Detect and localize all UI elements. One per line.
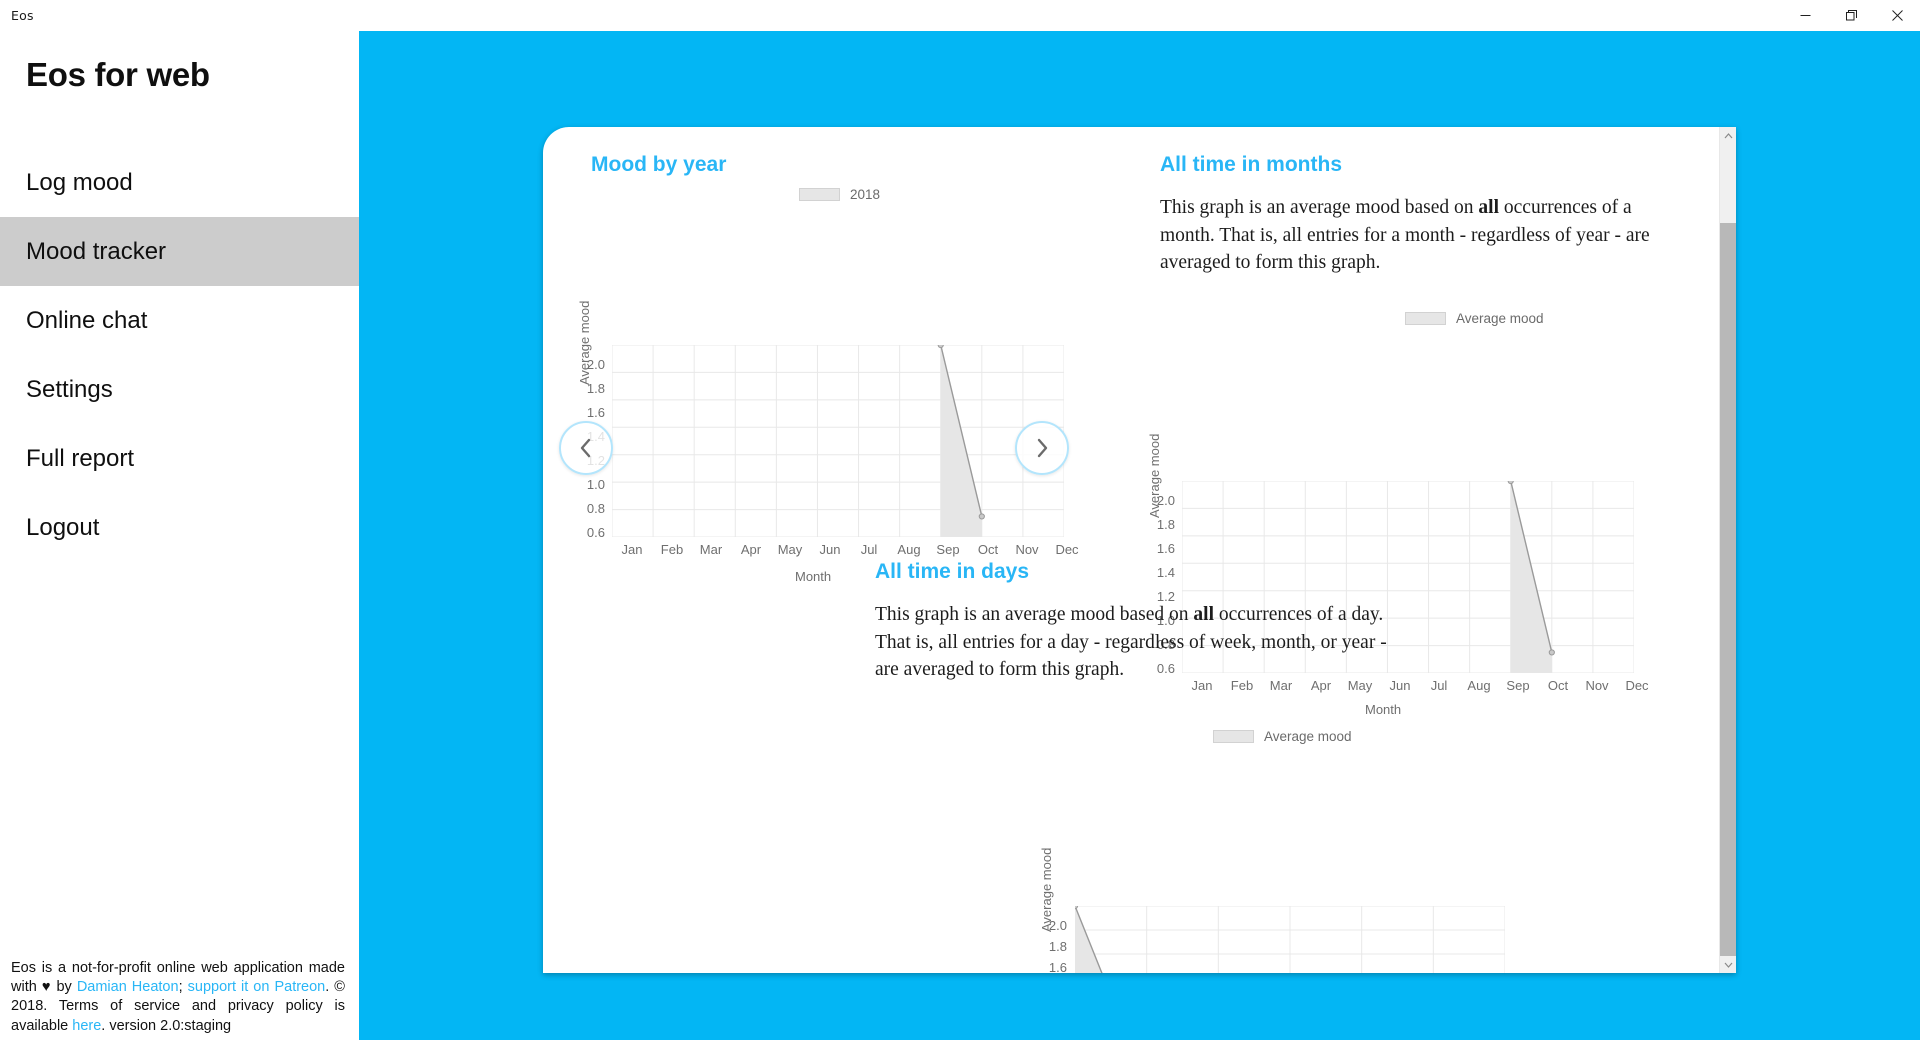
y-tick: 1.8: [563, 381, 605, 396]
sidebar-nav: Log mood Mood tracker Online chat Settin…: [0, 148, 359, 562]
chart-all-time-in-days: Average mood Average mood 2.0 1.8 1.6 1.…: [843, 707, 1413, 973]
sidebar: Eos for web Log mood Mood tracker Online…: [0, 31, 359, 1040]
footer-text-2: by: [51, 979, 76, 995]
y-tick: 1.6: [1133, 541, 1175, 556]
next-year-button[interactable]: [1015, 421, 1069, 475]
legend-swatch-2018: [799, 188, 840, 201]
sidebar-item-settings[interactable]: Settings: [0, 355, 359, 424]
para-emphasis: all: [1478, 197, 1499, 218]
scroll-down-button[interactable]: [1720, 956, 1736, 973]
chevron-left-icon: [578, 437, 594, 459]
sidebar-item-label: Full report: [26, 445, 134, 473]
restore-icon: [1846, 10, 1857, 21]
sidebar-item-label: Mood tracker: [26, 238, 166, 266]
x-tick: Dec: [1600, 678, 1674, 693]
y-tick: 2.0: [1133, 493, 1175, 508]
content-stage: Mood by year 2018 Average mood 2.0 1.8 1…: [359, 31, 1920, 1040]
y-tick: 0.6: [563, 525, 605, 540]
chevron-down-icon: [1724, 962, 1733, 968]
section-paragraph-all-time-months: This graph is an average mood based on a…: [1160, 194, 1684, 277]
y-tick: 2.0: [563, 357, 605, 372]
chart-legend: Average mood: [1213, 729, 1352, 744]
y-tick: 1.4: [1133, 565, 1175, 580]
sidebar-item-label: Online chat: [26, 307, 147, 335]
chevron-up-icon: [1724, 133, 1733, 139]
footer-text-5: . version 2.0:staging: [101, 1018, 231, 1034]
link-support-patreon[interactable]: support it on Patreon: [188, 979, 326, 995]
footer-text-3: ;: [179, 979, 188, 995]
x-axis-title: Month: [795, 569, 831, 584]
close-button[interactable]: [1874, 0, 1920, 31]
app-window: Eos Eos for web: [0, 0, 1920, 1040]
y-tick: 1.6: [1025, 960, 1067, 973]
prev-year-button[interactable]: [559, 421, 613, 475]
title-bar: Eos: [0, 0, 1920, 31]
y-tick: 2.0: [1025, 918, 1067, 933]
link-damian-heaton[interactable]: Damian Heaton: [77, 979, 179, 995]
sidebar-item-label: Logout: [26, 514, 99, 542]
restore-button[interactable]: [1828, 0, 1874, 31]
minimize-button[interactable]: [1782, 0, 1828, 31]
sidebar-item-full-report[interactable]: Full report: [0, 424, 359, 493]
sidebar-item-logout[interactable]: Logout: [0, 493, 359, 562]
y-tick: 1.8: [1133, 517, 1175, 532]
y-tick: 1.8: [1025, 939, 1067, 954]
para-text-a: This graph is an average mood based on: [1160, 197, 1478, 218]
window-title: Eos: [11, 8, 34, 23]
card-inner: Mood by year 2018 Average mood 2.0 1.8 1…: [543, 127, 1719, 973]
sidebar-item-label: Settings: [26, 376, 113, 404]
x-tick: Dec: [1030, 542, 1104, 557]
legend-label-average-mood: Average mood: [1456, 311, 1544, 326]
minimize-icon: [1800, 10, 1811, 21]
section-title-all-time-months: All time in months: [1160, 153, 1342, 177]
legend-swatch-average-mood: [1213, 730, 1254, 743]
heart-icon: ♥: [42, 979, 52, 995]
sidebar-item-log-mood[interactable]: Log mood: [0, 148, 359, 217]
sidebar-footer: Eos is a not-for-profit online web appli…: [0, 959, 359, 1036]
y-tick: 1.6: [563, 405, 605, 420]
card-scrollbar[interactable]: [1719, 127, 1736, 973]
y-tick: 0.8: [563, 501, 605, 516]
para-text-a: This graph is an average mood based on: [875, 604, 1193, 625]
plot-area-mood-by-year: [612, 345, 1064, 537]
sidebar-item-online-chat[interactable]: Online chat: [0, 286, 359, 355]
section-paragraph-all-time-days: This graph is an average mood based on a…: [875, 601, 1409, 684]
section-title-all-time-days: All time in days: [875, 560, 1029, 584]
para-emphasis: all: [1193, 604, 1214, 625]
chart-all-time-in-months: Average mood Average mood 2.0 1.8 1.6 1.…: [1133, 303, 1703, 623]
chart-legend: 2018: [799, 187, 880, 202]
section-title-mood-by-year: Mood by year: [591, 153, 726, 177]
sidebar-item-mood-tracker[interactable]: Mood tracker: [0, 217, 359, 286]
chart-legend: Average mood: [1405, 311, 1544, 326]
close-icon: [1892, 10, 1903, 21]
window-controls: [1782, 0, 1920, 31]
legend-label-average-mood: Average mood: [1264, 729, 1352, 744]
sidebar-item-label: Log mood: [26, 169, 133, 197]
chevron-right-icon: [1034, 437, 1050, 459]
y-axis-title: Average mood: [577, 301, 592, 385]
legend-swatch-average-mood: [1405, 312, 1446, 325]
scroll-up-button[interactable]: [1720, 127, 1736, 144]
y-tick: 1.0: [563, 477, 605, 492]
brand-title: Eos for web: [26, 56, 210, 94]
link-here[interactable]: here: [72, 1018, 101, 1034]
legend-label-2018: 2018: [850, 187, 880, 202]
scrollbar-thumb[interactable]: [1720, 223, 1736, 962]
plot-area-all-time-in-days: [1075, 906, 1505, 973]
content-card: Mood by year 2018 Average mood 2.0 1.8 1…: [543, 127, 1736, 973]
